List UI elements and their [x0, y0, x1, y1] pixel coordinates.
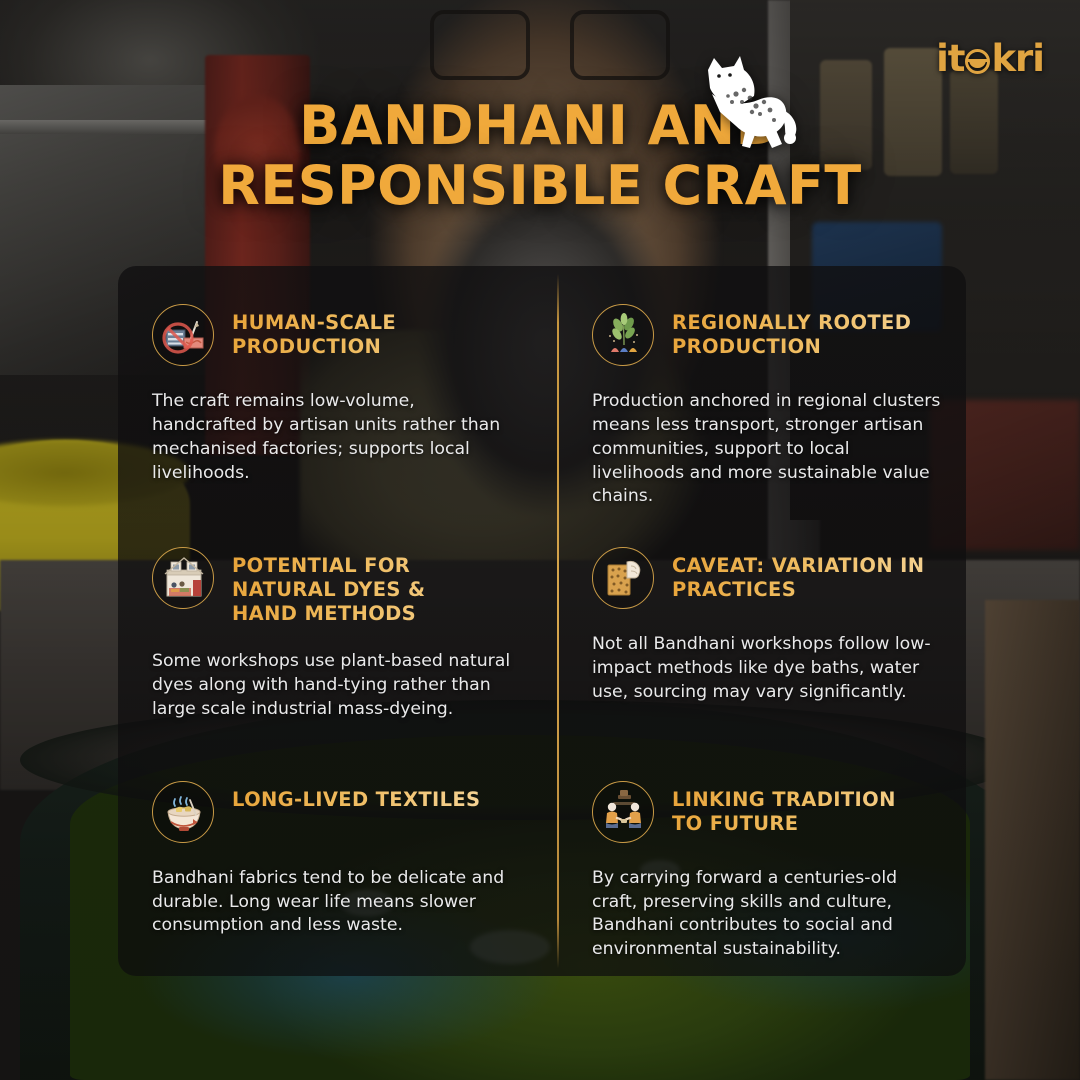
card-header: CAVEAT: VARIATION IN PRACTICES [592, 547, 946, 609]
card-header: POTENTIAL FOR NATURAL DYES & HAND METHOD… [152, 547, 514, 626]
page-title-line-2: RESPONSIBLE CRAFT [0, 156, 1080, 216]
card-body: Not all Bandhani workshops follow low-im… [592, 633, 946, 705]
feature-card-caveat-variation-in-practices: CAVEAT: VARIATION IN PRACTICES Not all B… [542, 509, 966, 742]
card-body: Production anchored in regional clusters… [592, 390, 946, 509]
feature-card-long-lived-textiles: LONG-LIVED TEXTILES Bandhani fabrics ten… [118, 743, 542, 976]
brand-logo[interactable]: it kri [936, 40, 1044, 77]
card-title: HUMAN-SCALE PRODUCTION [232, 311, 492, 359]
page-title: BANDHANI AND RESPONSIBLE CRAFT [0, 96, 1080, 217]
feature-card-linking-tradition-to-future: LINKING TRADITION TO FUTURE By carrying … [542, 743, 966, 976]
two-artisans-seated-icon [592, 781, 654, 843]
card-body: By carrying forward a centuries-old craf… [592, 867, 946, 962]
artisan-workshop-building-icon [152, 547, 214, 609]
card-body: Bandhani fabrics tend to be delicate and… [152, 867, 514, 939]
basket-icon [965, 49, 990, 74]
card-title: REGIONALLY ROOTED PRODUCTION [672, 311, 932, 359]
no-factory-machine-icon [152, 304, 214, 366]
white-cat-icon [686, 54, 804, 162]
card-title: CAVEAT: VARIATION IN PRACTICES [672, 554, 932, 602]
card-body: The craft remains low-volume, handcrafte… [152, 390, 514, 485]
brand-logo-prefix: it [936, 40, 964, 77]
feature-card-natural-dyes-hand-methods: POTENTIAL FOR NATURAL DYES & HAND METHOD… [118, 509, 542, 742]
feature-card-human-scale-production: HUMAN-SCALE PRODUCTION The craft remains… [118, 266, 542, 509]
feature-grid: HUMAN-SCALE PRODUCTION The craft remains… [118, 266, 966, 976]
card-title: LINKING TRADITION TO FUTURE [672, 788, 932, 836]
content-panel: HUMAN-SCALE PRODUCTION The craft remains… [118, 266, 966, 976]
card-header: LONG-LIVED TEXTILES [152, 781, 514, 843]
steaming-dye-pot-icon [152, 781, 214, 843]
card-title: LONG-LIVED TEXTILES [232, 788, 480, 812]
card-title: POTENTIAL FOR NATURAL DYES & HAND METHOD… [232, 554, 492, 626]
page-title-line-1: BANDHANI AND [0, 96, 1080, 156]
hand-holding-patterned-fabric-icon [592, 547, 654, 609]
feature-card-regionally-rooted-production: REGIONALLY ROOTED PRODUCTION Production … [542, 266, 966, 509]
card-header: LINKING TRADITION TO FUTURE [592, 781, 946, 843]
card-header: HUMAN-SCALE PRODUCTION [152, 304, 514, 366]
leaves-and-pigments-icon [592, 304, 654, 366]
card-body: Some workshops use plant-based natural d… [152, 650, 514, 722]
brand-logo-suffix: kri [991, 40, 1044, 77]
card-header: REGIONALLY ROOTED PRODUCTION [592, 304, 946, 366]
